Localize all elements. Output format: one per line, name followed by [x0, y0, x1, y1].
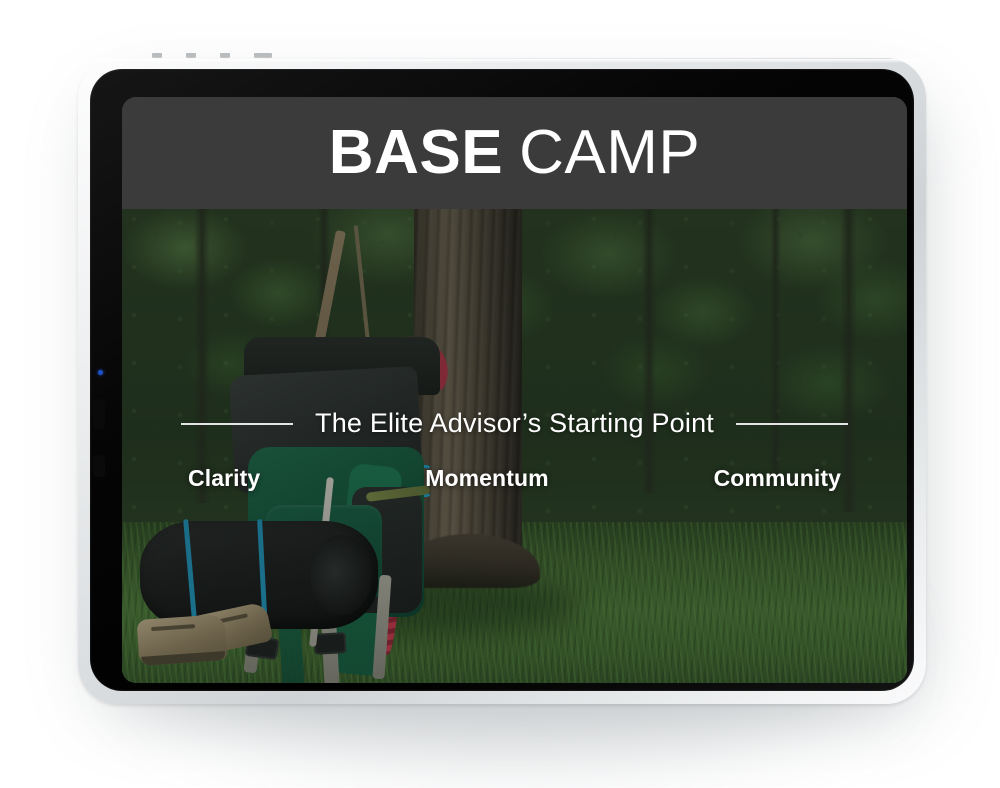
pillar-row: Clarity Momentum Community [122, 465, 907, 492]
hero-section: The Elite Advisor’s Starting Point Clari… [122, 209, 907, 683]
tagline-rule-left [181, 423, 293, 425]
tagline-rule-right [736, 423, 848, 425]
pillar-community: Community [714, 465, 841, 492]
hero-text-overlay: The Elite Advisor’s Starting Point Clari… [122, 209, 907, 683]
app-header-bar: BASECAMP [122, 97, 907, 209]
tablet-device: BASECAMP [78, 58, 926, 704]
tablet-top-ports [152, 52, 312, 57]
microphone-port-icon [152, 53, 162, 57]
tablet-edge-highlight [80, 59, 924, 63]
pillar-clarity: Clarity [188, 465, 260, 492]
tablet-bezel: BASECAMP [90, 69, 914, 691]
microphone-port-icon [220, 53, 230, 57]
brand-title: BASECAMP [329, 122, 700, 184]
pillar-momentum: Momentum [425, 465, 548, 492]
brand-title-base: BASE [329, 118, 503, 187]
camera-indicator-icon [98, 370, 103, 375]
brand-title-camp: CAMP [519, 118, 700, 187]
side-speaker-icon [93, 319, 105, 353]
hero-tagline: The Elite Advisor’s Starting Point [315, 408, 714, 439]
side-speaker-icon [93, 455, 105, 477]
tagline-row: The Elite Advisor’s Starting Point [122, 408, 907, 439]
power-button-icon[interactable] [254, 53, 272, 57]
tablet-screen: BASECAMP [122, 97, 907, 683]
side-speaker-icon [93, 399, 105, 429]
microphone-port-icon [186, 53, 196, 57]
